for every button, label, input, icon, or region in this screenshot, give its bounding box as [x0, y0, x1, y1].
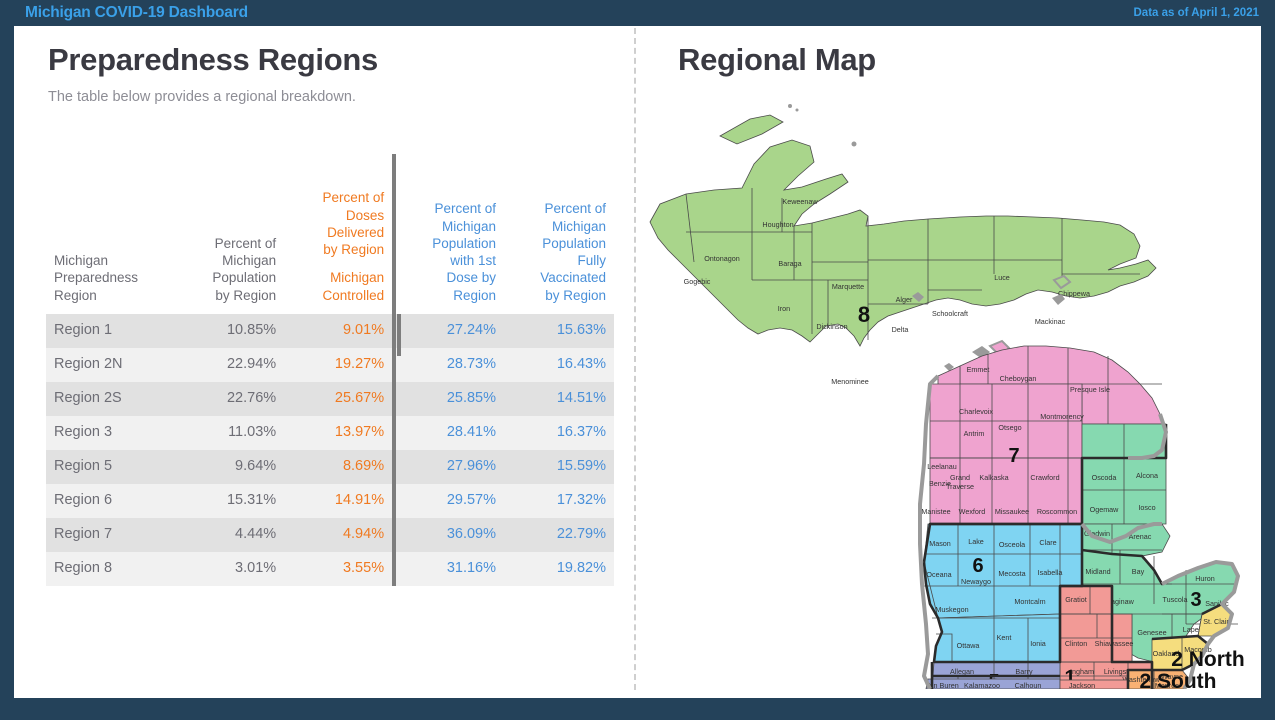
- county-label: Iosco: [1138, 503, 1155, 512]
- county-label: Bay: [1132, 567, 1145, 576]
- top-header-bar: Michigan COVID-19 Dashboard Data as of A…: [0, 0, 1275, 26]
- app-title: Michigan COVID-19 Dashboard: [25, 4, 248, 22]
- county-label: Muskegon: [935, 605, 968, 614]
- county-label: Lake: [968, 537, 984, 546]
- hdr-line: Percent of: [215, 236, 277, 251]
- hdr-line: Population: [542, 236, 606, 251]
- cell-pct-doses: 3.55%: [284, 552, 394, 586]
- cell-pct-fully-vaccinated: 22.79%: [504, 518, 614, 552]
- cell-pct-population: 22.94%: [176, 348, 284, 382]
- hdr-line: Vaccinated: [540, 270, 606, 285]
- county-label: Mecosta: [998, 569, 1025, 578]
- cell-region: Region 3: [46, 416, 176, 450]
- table-row: Region 110.85%9.01%27.24%15.63%: [46, 314, 614, 348]
- cell-pct-fully-vaccinated: 16.37%: [504, 416, 614, 450]
- county-label: Marquette: [832, 282, 864, 291]
- county-label: Calhoun: [1015, 681, 1042, 689]
- cell-pct-population: 22.76%: [176, 382, 284, 416]
- cell-region: Region 6: [46, 484, 176, 518]
- region-label-7: 7: [1008, 445, 1019, 467]
- table-row: Region 311.03%13.97%28.41%16.37%: [46, 416, 614, 450]
- cell-pct-doses: 25.67%: [284, 382, 394, 416]
- hdr-line: Doses: [346, 208, 384, 223]
- preparedness-table-wrapper: Michigan Preparedness Region Percent of …: [46, 154, 616, 586]
- county-label: Iron: [778, 304, 790, 313]
- table-body: Region 110.85%9.01%27.24%15.63%Region 2N…: [46, 314, 614, 586]
- table-row: Region 2S22.76%25.67%25.85%14.51%: [46, 382, 614, 416]
- region-label-2north: 2 North: [1171, 648, 1245, 671]
- county-label: Manistee: [921, 507, 950, 516]
- hdr-line: Population: [212, 270, 276, 285]
- county-label: Cheboygan: [1000, 374, 1037, 383]
- cell-pct-population: 11.03%: [176, 416, 284, 450]
- cell-pct-fully-vaccinated: 15.63%: [504, 314, 614, 348]
- cell-pct-fully-vaccinated: 14.51%: [504, 382, 614, 416]
- county-label: Tuscola: [1163, 595, 1188, 604]
- county-label: Delta: [892, 325, 909, 334]
- regional-map-panel: Regional Map: [634, 26, 1261, 698]
- cell-pct-fully-vaccinated: 15.59%: [504, 450, 614, 484]
- col-header-pct-fully-vaccinated: Percent of Michigan Population Fully Vac…: [504, 154, 614, 314]
- cell-pct-first-dose: 31.16%: [394, 552, 504, 586]
- region-8-group[interactable]: Keweenaw Houghton Ontonagon Gogebic Bara…: [650, 115, 1156, 386]
- county-label: Otsego: [998, 423, 1021, 432]
- preparedness-table: Michigan Preparedness Region Percent of …: [46, 154, 614, 586]
- county-label: Missaukee: [995, 507, 1029, 516]
- table-head: Michigan Preparedness Region Percent of …: [46, 154, 614, 314]
- cell-pct-doses: 14.91%: [284, 484, 394, 518]
- county-label: Ontonagon: [704, 254, 740, 263]
- county-label: Alcona: [1136, 471, 1158, 480]
- county-label: Gratiot: [1065, 595, 1087, 604]
- table-row: Region 74.44%4.94%36.09%22.79%: [46, 518, 614, 552]
- southern-tier-counties: Van Buren Kalamazoo Calhoun Jackson: [925, 679, 1128, 689]
- hdr-line: Dose by: [446, 270, 496, 285]
- cell-region: Region 1: [46, 314, 176, 348]
- county-label: Ogemaw: [1090, 505, 1120, 514]
- region-label-8: 8: [858, 302, 870, 327]
- hdr-line: Controlled: [323, 288, 385, 303]
- county-label: Roscommon: [1037, 507, 1077, 516]
- table-row: Region 83.01%3.55%31.16%19.82%: [46, 552, 614, 586]
- cell-pct-doses: 4.94%: [284, 518, 394, 552]
- col-header-pct-doses-delivered: Percent of Doses Delivered by Region Mic…: [284, 154, 394, 314]
- county-label: Presque Isle: [1070, 385, 1110, 394]
- cell-pct-doses: 9.01%: [284, 314, 394, 348]
- cell-region: Region 5: [46, 450, 176, 484]
- hdr-line: Preparedness: [54, 270, 138, 285]
- cell-pct-fully-vaccinated: 19.82%: [504, 552, 614, 586]
- hdr-line: by Region: [215, 288, 276, 303]
- hdr-line: Percent of: [544, 201, 606, 216]
- michigan-region-map: Keweenaw Houghton Ontonagon Gogebic Bara…: [642, 84, 1252, 689]
- county-label: Genesee: [1137, 628, 1166, 637]
- cell-pct-first-dose: 25.85%: [394, 382, 504, 416]
- county-label: Clare: [1039, 538, 1056, 547]
- hdr-line: Percent of: [434, 201, 496, 216]
- hdr-line: Population: [432, 236, 496, 251]
- hdr-line: Michigan: [552, 219, 606, 234]
- county-label: Midland: [1085, 567, 1110, 576]
- cell-pct-doses: 13.97%: [284, 416, 394, 450]
- cell-pct-doses: 19.27%: [284, 348, 394, 382]
- table-header-row: Michigan Preparedness Region Percent of …: [46, 154, 614, 314]
- county-label: Newaygo: [961, 577, 991, 586]
- hdr-line: Michigan: [442, 219, 496, 234]
- table-row: Region 2N22.94%19.27%28.73%16.43%: [46, 348, 614, 382]
- table-row: Region 59.64%8.69%27.96%15.59%: [46, 450, 614, 484]
- cell-pct-first-dose: 29.57%: [394, 484, 504, 518]
- hdr-line: Delivered: [327, 225, 384, 240]
- county-label: Kalamazoo: [964, 681, 1000, 689]
- hdr-line: by Region: [545, 288, 606, 303]
- county-label: Kent: [997, 633, 1012, 642]
- county-label: Alger: [896, 295, 913, 304]
- cell-pct-population: 15.31%: [176, 484, 284, 518]
- table-column-rule: [397, 314, 401, 356]
- county-label: Shiawassee: [1095, 639, 1134, 648]
- county-label: Kalkaska: [979, 473, 1008, 482]
- hdr-line: Michigan: [222, 253, 276, 268]
- cell-pct-doses: 8.69%: [284, 450, 394, 484]
- county-label: Jackson: [1069, 681, 1095, 689]
- county-label: Gogebic: [684, 277, 711, 286]
- hdr-line: Michigan: [330, 270, 384, 285]
- cell-pct-population: 4.44%: [176, 518, 284, 552]
- county-label: Schoolcraft: [932, 309, 968, 318]
- cell-region: Region 2N: [46, 348, 176, 382]
- county-label: Ottawa: [957, 641, 980, 650]
- page-title: Preparedness Regions: [48, 42, 378, 78]
- county-label: Allegan: [950, 667, 974, 676]
- cell-pct-population: 10.85%: [176, 314, 284, 348]
- hdr-line: Fully: [577, 253, 606, 268]
- county-label: Oscoda: [1092, 473, 1117, 482]
- region-6-group[interactable]: Mason Lake Osceola Clare Oceana Newaygo …: [924, 524, 1082, 662]
- region-label-2south: 2 South: [1140, 670, 1217, 689]
- cell-pct-fully-vaccinated: 16.43%: [504, 348, 614, 382]
- panel-subtitle: The table below provides a regional brea…: [48, 88, 378, 108]
- cell-pct-first-dose: 28.41%: [394, 416, 504, 450]
- county-label: Dickinson: [816, 322, 847, 331]
- county-label: Charlevoix: [959, 407, 993, 416]
- map-title: Regional Map: [678, 42, 876, 78]
- cell-pct-fully-vaccinated: 17.32%: [504, 484, 614, 518]
- county-label: Houghton: [762, 220, 793, 229]
- col-header-region: Michigan Preparedness Region: [46, 154, 176, 314]
- cell-pct-population: 3.01%: [176, 552, 284, 586]
- county-label: Menominee: [831, 377, 869, 386]
- hdr-line: Michigan: [54, 253, 108, 268]
- county-label: Isabella: [1038, 568, 1063, 577]
- cell-pct-first-dose: 28.73%: [394, 348, 504, 382]
- hdr-line: Percent of: [323, 190, 385, 205]
- data-as-of-label: Data as of April 1, 2021: [1134, 7, 1260, 19]
- cell-pct-population: 9.64%: [176, 450, 284, 484]
- county-label: Keweenaw: [782, 197, 818, 206]
- county-label: Grand: [950, 473, 970, 482]
- cell-pct-first-dose: 27.96%: [394, 450, 504, 484]
- county-label: St. Clair: [1203, 617, 1229, 626]
- cell-pct-first-dose: 27.24%: [394, 314, 504, 348]
- county-label: Crawford: [1030, 473, 1059, 482]
- county-label: Barry: [1015, 667, 1033, 676]
- county-label: Osceola: [999, 540, 1025, 549]
- col-header-pct-population: Percent of Michigan Population by Region: [176, 154, 284, 314]
- county-label: Ionia: [1030, 639, 1046, 648]
- county-label: Traverse: [946, 482, 974, 491]
- county-label: Baraga: [778, 259, 801, 268]
- hdr-line: Region: [453, 288, 496, 303]
- table-row: Region 615.31%14.91%29.57%17.32%: [46, 484, 614, 518]
- region-label-3: 3: [1190, 589, 1201, 611]
- county-label: Emmet: [967, 365, 990, 374]
- hdr-line: by Region: [323, 242, 384, 257]
- michigan-map-svg: Keweenaw Houghton Ontonagon Gogebic Bara…: [642, 84, 1252, 689]
- county-label: Huron: [1195, 574, 1215, 583]
- preparedness-regions-panel: Preparedness Regions The table below pro…: [14, 26, 634, 698]
- county-label: Mackinac: [1035, 317, 1066, 326]
- county-label: Leelanau: [927, 462, 957, 471]
- county-label: Wexford: [959, 507, 986, 516]
- county-label: Oceana: [926, 570, 951, 579]
- cell-region: Region 7: [46, 518, 176, 552]
- county-label: Mason: [929, 539, 951, 548]
- county-label: Antrim: [964, 429, 985, 438]
- county-label: Clinton: [1065, 639, 1087, 648]
- county-label: Montcalm: [1014, 597, 1045, 606]
- dashboard-card: Preparedness Regions The table below pro…: [14, 26, 1261, 698]
- cell-pct-first-dose: 36.09%: [394, 518, 504, 552]
- county-label: Montmorency: [1040, 412, 1084, 421]
- hdr-line: Region: [54, 288, 97, 303]
- cell-region: Region 2S: [46, 382, 176, 416]
- region-label-6: 6: [972, 555, 983, 577]
- cell-region: Region 8: [46, 552, 176, 586]
- hdr-line: with 1st: [450, 253, 496, 268]
- county-label: Luce: [994, 273, 1010, 282]
- col-header-pct-first-dose: Percent of Michigan Population with 1st …: [394, 154, 504, 314]
